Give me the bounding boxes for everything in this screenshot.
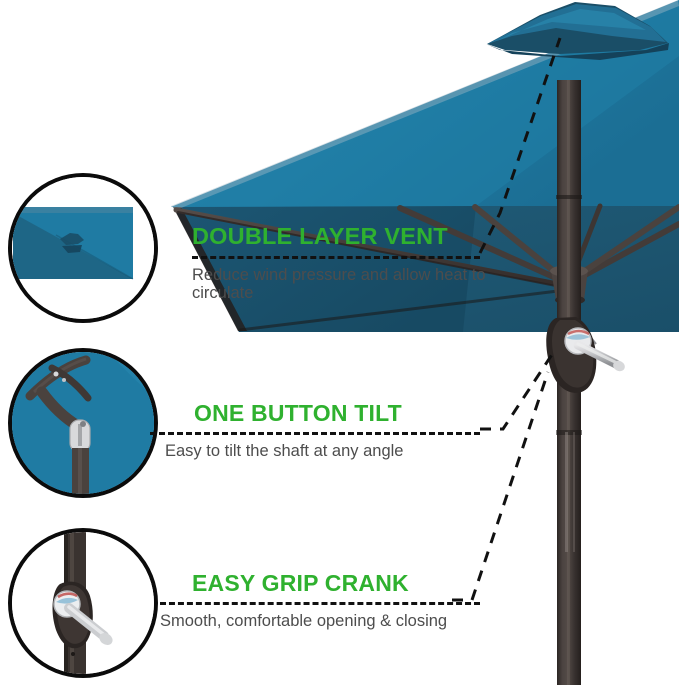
leader-vent: [480, 38, 560, 253]
feature-description: Easy to tilt the shaft at any angle: [165, 442, 465, 460]
canopy-vent-closeup: [12, 177, 154, 319]
inset-tilt-mechanism: [8, 348, 158, 498]
canopy-top-surface: [171, 0, 679, 210]
double-layer-vent: [486, 2, 669, 60]
feature-description: Smooth, comfortable opening & closing: [160, 612, 460, 630]
leader-tilt: [480, 353, 553, 429]
feature-description: Reduce wind pressure and allow heat to c…: [192, 266, 492, 303]
inset-crank-handle: [8, 528, 158, 678]
inset-canopy-vent: [8, 173, 158, 323]
feature-block-double-layer-vent: DOUBLE LAYER VENT Reduce wind pressure a…: [192, 225, 492, 302]
tilt-button: [548, 316, 596, 351]
feature-headline: DOUBLE LAYER VENT: [192, 225, 492, 249]
feature-divider: [150, 432, 480, 435]
tilt-mechanism-closeup: [12, 352, 154, 494]
feature-divider: [192, 256, 480, 259]
center-pole: [556, 80, 582, 685]
feature-block-easy-grip-crank: EASY GRIP CRANK Smooth, comfortable open…: [192, 572, 480, 630]
feature-headline: EASY GRIP CRANK: [192, 572, 480, 595]
feature-divider: [160, 602, 480, 605]
feature-block-one-button-tilt: ONE BUTTON TILT Easy to tilt the shaft a…: [192, 402, 480, 460]
crank-handle: [546, 317, 626, 393]
feature-headline: ONE BUTTON TILT: [194, 402, 480, 425]
rib-hub: [550, 265, 588, 305]
crank-handle-closeup: [12, 532, 154, 674]
infographic-canvas: DOUBLE LAYER VENT Reduce wind pressure a…: [0, 0, 679, 685]
